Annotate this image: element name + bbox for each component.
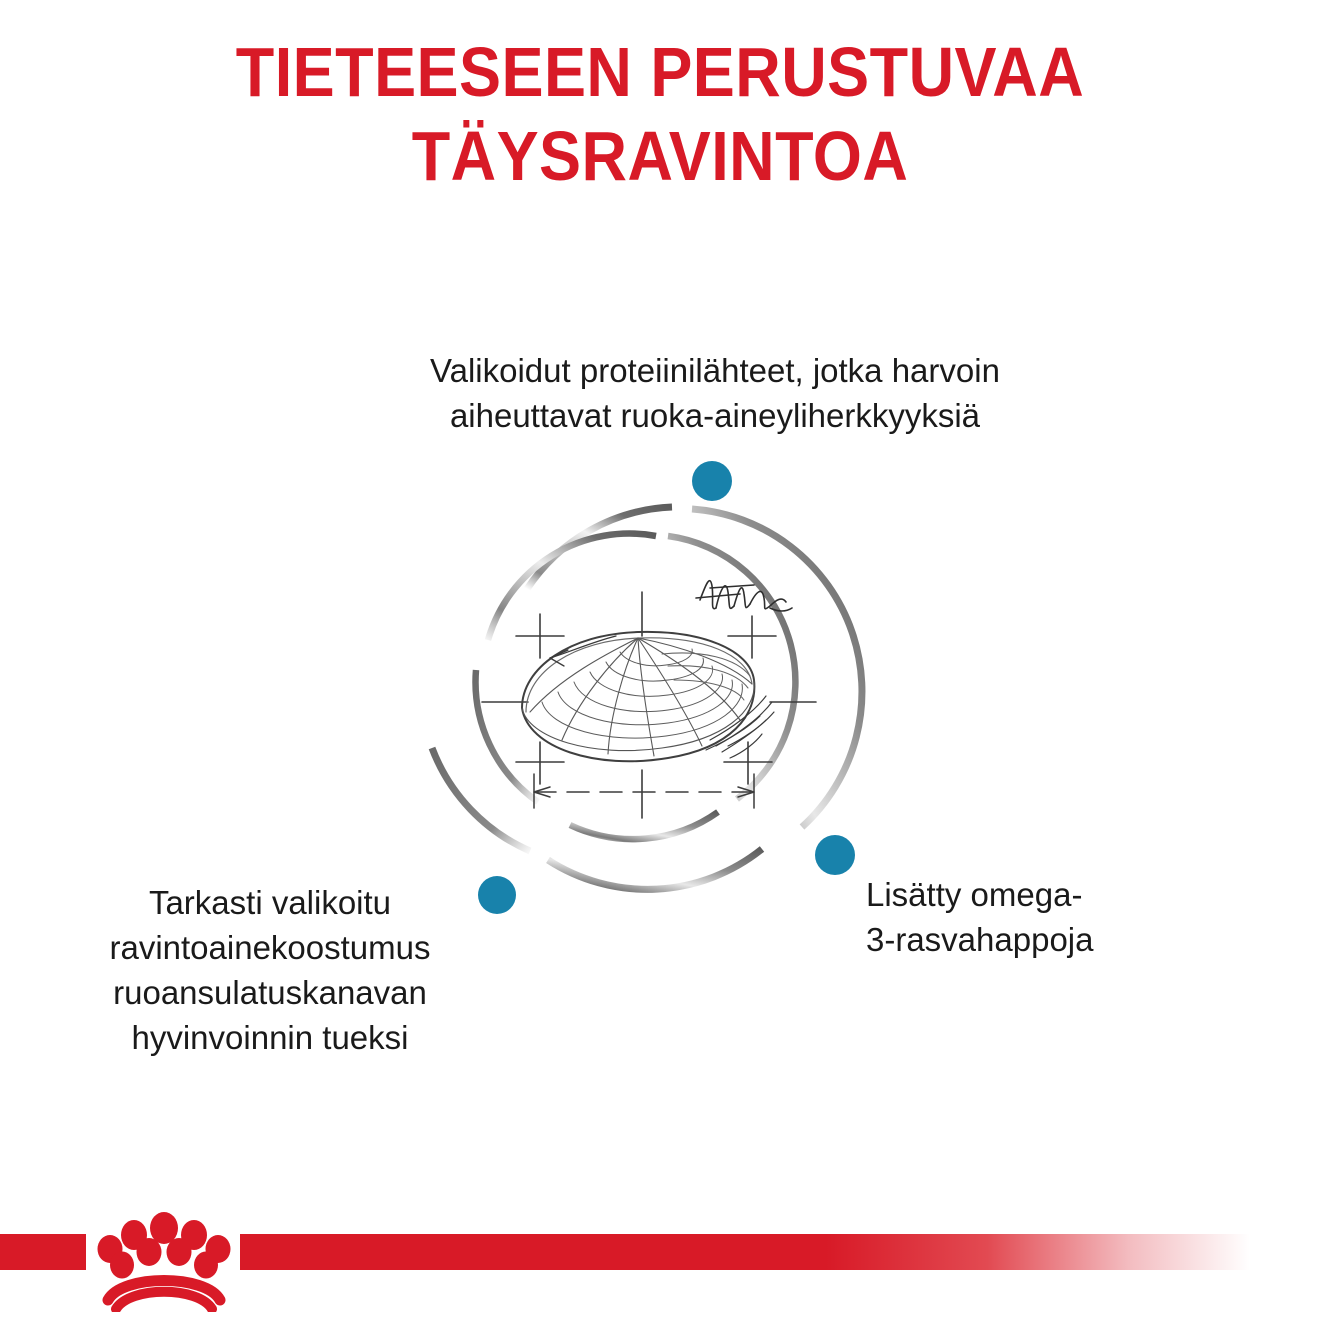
footer [0,1234,1320,1320]
marker-dot-top[interactable] [692,461,732,501]
page-title-line-1: TIETEESEEN PERUSTUVAA [66,30,1254,114]
callout-text-protein-sources: Valikoidut proteiinilähteet, jotka harvo… [310,348,1120,438]
marker-dot-bottom-left[interactable] [478,876,516,914]
callout-text-omega-3: Lisätty omega- 3-rasvahappoja [866,872,1196,962]
page-title-line-2: TÄYSRAVINTOA [66,114,1254,198]
infographic-page: TIETEESEEN PERUSTUVAA TÄYSRAVINTOA Valik… [0,0,1320,1320]
marker-dot-right[interactable] [815,835,855,875]
page-title: TIETEESEEN PERUSTUVAA TÄYSRAVINTOA [0,30,1320,198]
footer-bar-right [240,1234,1250,1270]
circular-diagram [410,440,910,950]
royal-canin-crown-icon [88,1208,240,1312]
kibble-technical-sketch [482,581,816,818]
footer-bar-left [0,1234,86,1270]
